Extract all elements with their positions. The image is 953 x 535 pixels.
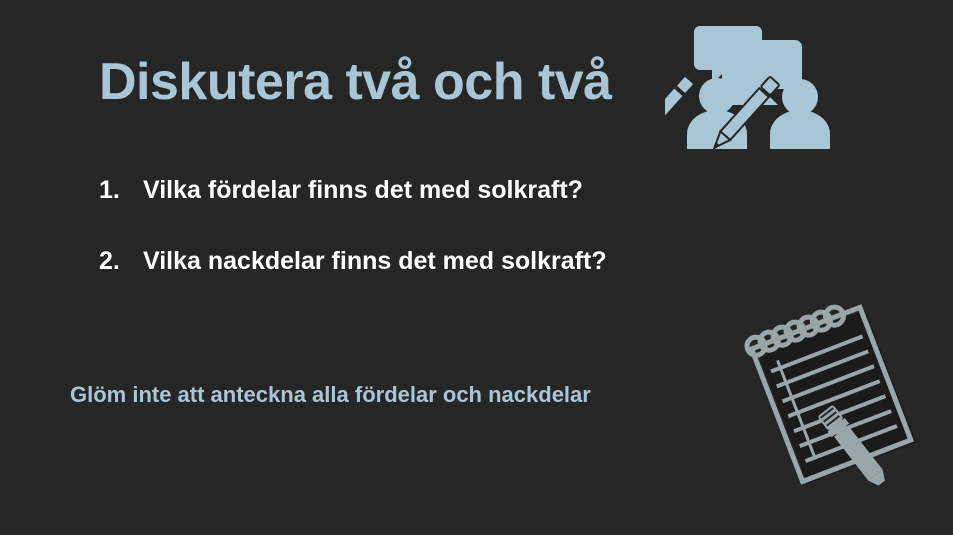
list-item-text: Vilka nackdelar finns det med solkraft? — [143, 247, 607, 276]
question-list: 1. Vilka fördelar finns det med solkraft… — [99, 176, 739, 318]
spiral-notepad-pencil-icon — [735, 298, 935, 488]
footer-note: Glöm inte att anteckna alla fördelar och… — [70, 382, 591, 408]
list-item-number: 2. — [99, 247, 143, 276]
presentation-slide: Diskutera två och två 1. Vilka fördelar … — [0, 0, 953, 535]
list-item-text: Vilka fördelar finns det med solkraft? — [143, 176, 583, 205]
slide-title: Diskutera två och två — [99, 53, 612, 111]
two-people-speech-bubbles-pencils-icon — [665, 18, 865, 168]
list-item: 2. Vilka nackdelar finns det med solkraf… — [99, 247, 739, 276]
list-item: 1. Vilka fördelar finns det med solkraft… — [99, 176, 739, 205]
list-item-number: 1. — [99, 176, 143, 205]
